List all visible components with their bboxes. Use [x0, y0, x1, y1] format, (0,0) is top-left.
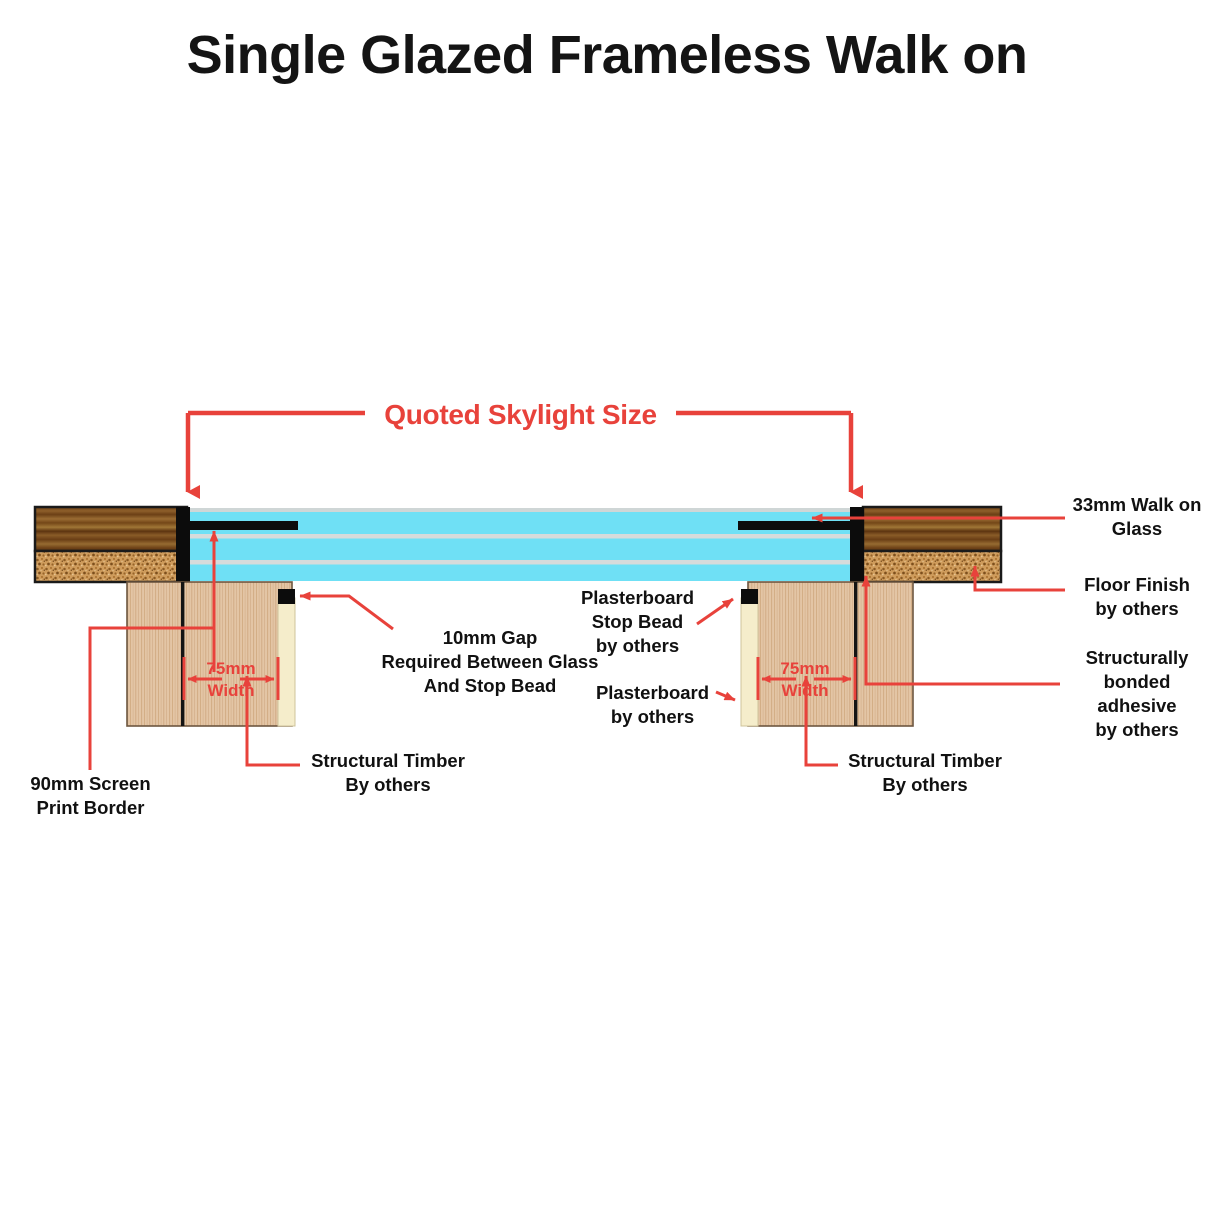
callout-walk-on-glass: 33mm Walk on Glass: [1062, 493, 1212, 541]
callout-floor-finish: Floor Finish by others: [1062, 573, 1212, 621]
plasterboard-left: [278, 598, 295, 726]
callout-structural-timber-right: Structural Timber By others: [840, 749, 1010, 797]
callout-structural-timber-left: Structural Timber By others: [303, 749, 473, 797]
screen-print-band-left: [190, 521, 298, 530]
callout-screen-print-border: 90mm Screen Print Border: [18, 772, 163, 820]
diagram-canvas: Single Glazed Frameless Walk on: [0, 0, 1214, 1214]
screen-print-band-right: [738, 521, 856, 530]
callout-plasterboard-stop-bead: Plasterboard Stop Bead by others: [565, 586, 710, 658]
callout-plasterboard: Plasterboard by others: [585, 681, 720, 729]
structural-timber-right: [741, 582, 913, 726]
walk-on-glass-unit: [187, 508, 863, 581]
plasterboard-stop-bead-right: [741, 589, 758, 604]
floor-buildup-left: [35, 507, 187, 582]
dimension-75mm-left: 75mm Width: [186, 658, 276, 703]
leader-gap-stop-bead: [300, 596, 393, 629]
plasterboard-stop-bead-left: [278, 589, 295, 604]
structural-timber-left: [127, 582, 295, 726]
plasterboard-right: [741, 598, 758, 726]
dimension-75mm-right: 75mm Width: [760, 658, 850, 703]
callout-bonded-adhesive: Structurally bonded adhesive by others: [1062, 646, 1212, 742]
quoted-skylight-size-label: Quoted Skylight Size: [365, 399, 676, 431]
